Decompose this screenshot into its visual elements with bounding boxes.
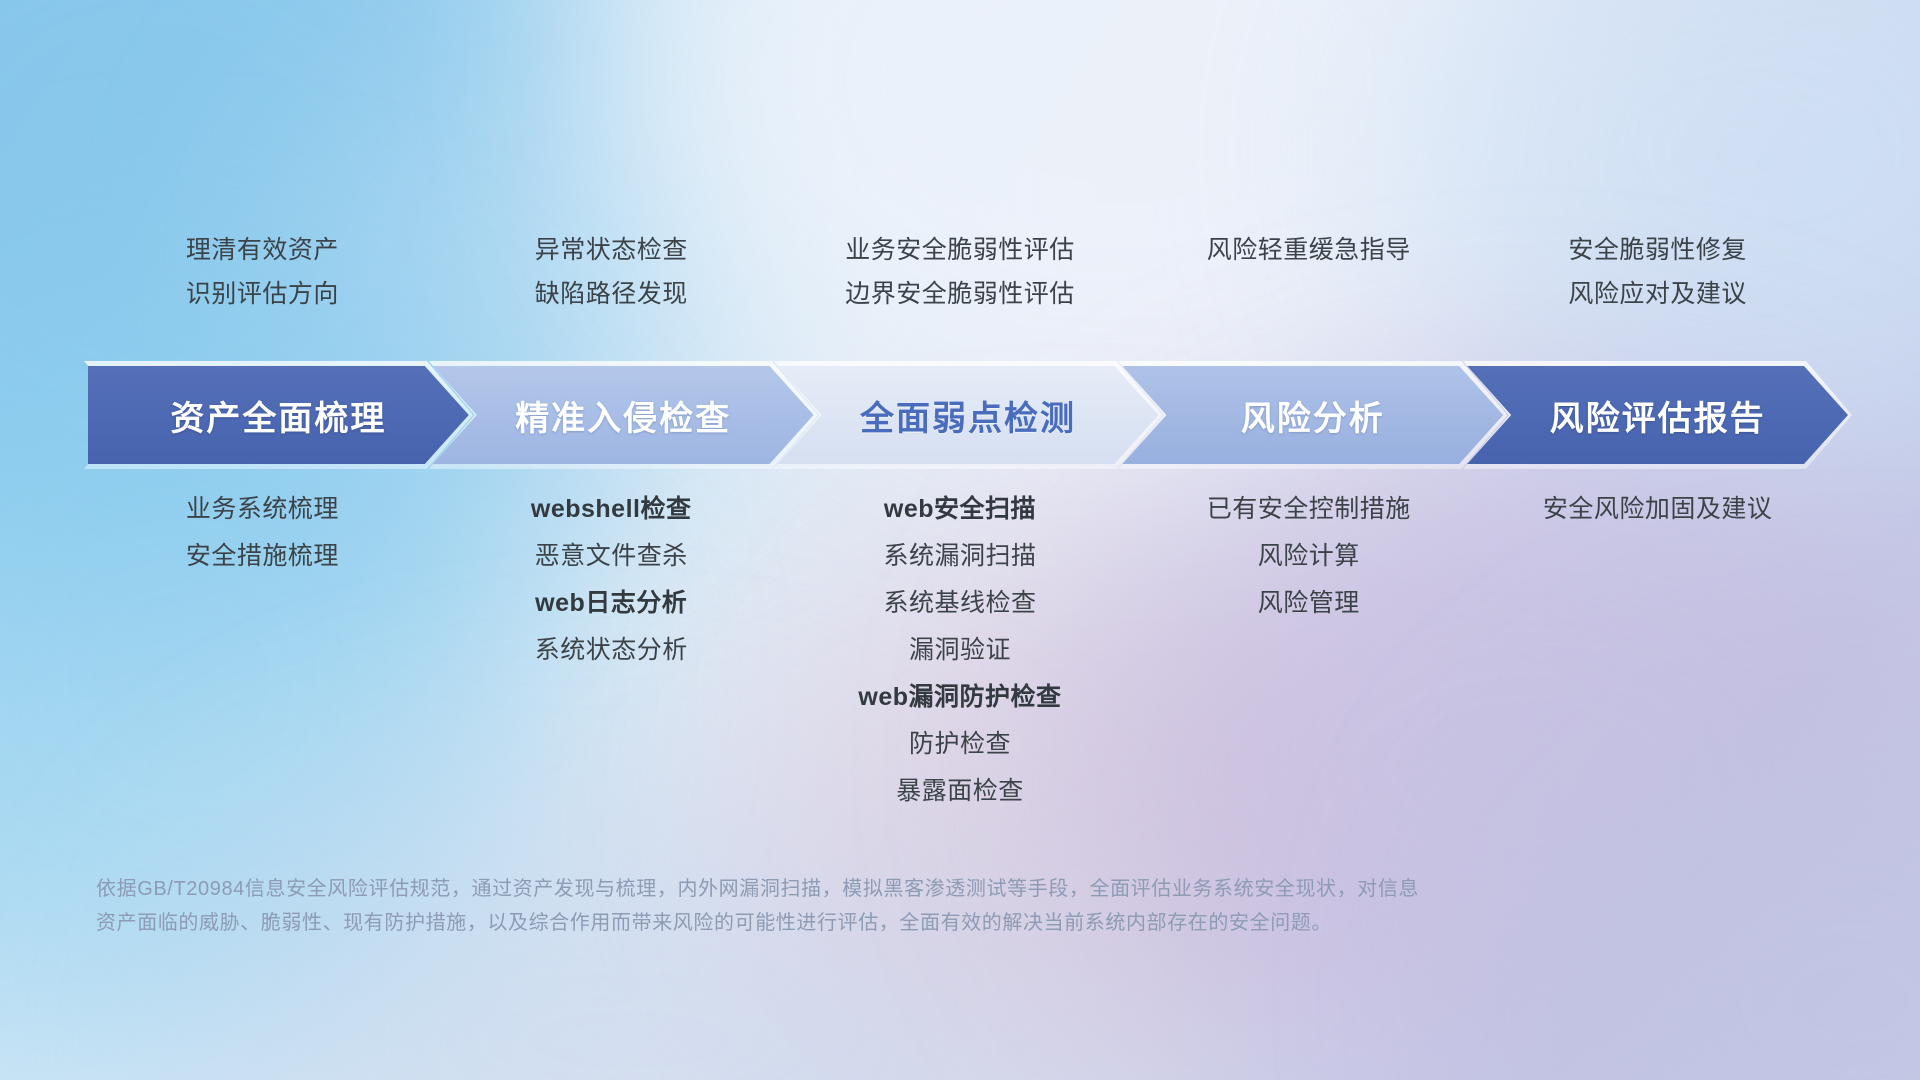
bottom-text-item: webshell检查 [531, 486, 692, 533]
footer-line-1: 依据GB/T20984信息安全风险评估规范，通过资产发现与梳理，内外网漏洞扫描，… [96, 872, 1616, 906]
bottom-text-item: 恶意文件查杀 [535, 533, 688, 580]
top-column-intrusion-check: 异常状态检查缺陷路径发现 [437, 228, 786, 324]
bottom-text-item: 已有安全控制措施 [1207, 486, 1411, 533]
process-step-label: 精准入侵检查 [515, 391, 731, 440]
bottom-text-item: web安全扫描 [884, 486, 1036, 533]
process-step-asset-inventory[interactable]: 资产全面梳理 [88, 366, 469, 464]
bottom-text-item: 业务系统梳理 [186, 486, 339, 533]
bottom-text-item: 暴露面检查 [896, 768, 1024, 815]
bottom-text-item: 防护检查 [909, 721, 1011, 768]
top-text-item: 业务安全脆弱性评估 [845, 228, 1075, 272]
process-step-label: 风险分析 [1241, 391, 1385, 440]
bottom-column-intrusion-check: webshell检查恶意文件查杀web日志分析系统状态分析 [437, 486, 786, 674]
bottom-text-item: web日志分析 [535, 580, 687, 627]
top-text-row: 理清有效资产识别评估方向异常状态检查缺陷路径发现业务安全脆弱性评估边界安全脆弱性… [88, 228, 1832, 324]
process-step-intrusion-check[interactable]: 精准入侵检查 [433, 366, 814, 464]
top-column-weakness-detection: 业务安全脆弱性评估边界安全脆弱性评估 [786, 228, 1135, 324]
top-text-item: 风险轻重缓急指导 [1207, 228, 1411, 272]
top-text-item: 识别评估方向 [186, 272, 339, 316]
process-step-label: 全面弱点检测 [860, 391, 1076, 440]
process-step-weakness-detection[interactable]: 全面弱点检测 [778, 366, 1159, 464]
bottom-text-item: 风险计算 [1258, 533, 1360, 580]
bottom-column-weakness-detection: web安全扫描系统漏洞扫描系统基线检查漏洞验证web漏洞防护检查防护检查暴露面检… [786, 486, 1135, 815]
top-text-item: 风险应对及建议 [1568, 272, 1747, 316]
bottom-text-item: web漏洞防护检查 [858, 674, 1061, 721]
bottom-text-item: 风险管理 [1258, 580, 1360, 627]
footer-description: 依据GB/T20984信息安全风险评估规范，通过资产发现与梳理，内外网漏洞扫描，… [96, 872, 1616, 940]
process-step-assessment-report[interactable]: 风险评估报告 [1467, 366, 1848, 464]
top-text-item: 边界安全脆弱性评估 [845, 272, 1075, 316]
footer-line-2: 资产面临的威胁、脆弱性、现有防护措施，以及综合作用而带来风险的可能性进行评估，全… [96, 906, 1616, 940]
process-step-label: 风险评估报告 [1550, 391, 1766, 440]
bottom-text-item: 漏洞验证 [909, 627, 1011, 674]
bottom-text-item: 系统基线检查 [883, 580, 1036, 627]
process-diagram: 理清有效资产识别评估方向异常状态检查缺陷路径发现业务安全脆弱性评估边界安全脆弱性… [0, 0, 1920, 1080]
bottom-column-assessment-report: 安全风险加固及建议 [1483, 486, 1832, 533]
bottom-text-item: 系统漏洞扫描 [883, 533, 1036, 580]
bottom-column-asset-inventory: 业务系统梳理安全措施梳理 [88, 486, 437, 580]
top-column-assessment-report: 安全脆弱性修复风险应对及建议 [1483, 228, 1832, 324]
bottom-text-item: 安全措施梳理 [186, 533, 339, 580]
process-step-risk-analysis[interactable]: 风险分析 [1122, 366, 1503, 464]
top-text-item: 理清有效资产 [186, 228, 339, 272]
bottom-column-risk-analysis: 已有安全控制措施风险计算风险管理 [1134, 486, 1483, 627]
process-step-label: 资产全面梳理 [170, 391, 386, 440]
bottom-text-item: 系统状态分析 [535, 627, 688, 674]
bottom-text-item: 安全风险加固及建议 [1543, 486, 1773, 533]
process-step-banner: 资产全面梳理精准入侵检查全面弱点检测风险分析风险评估报告 [88, 366, 1848, 464]
top-column-risk-analysis: 风险轻重缓急指导 [1134, 228, 1483, 324]
top-text-item: 异常状态检查 [535, 228, 688, 272]
top-text-item: 缺陷路径发现 [535, 272, 688, 316]
bottom-text-row: 业务系统梳理安全措施梳理webshell检查恶意文件查杀web日志分析系统状态分… [88, 486, 1832, 786]
top-column-asset-inventory: 理清有效资产识别评估方向 [88, 228, 437, 324]
top-text-item: 安全脆弱性修复 [1568, 228, 1747, 272]
